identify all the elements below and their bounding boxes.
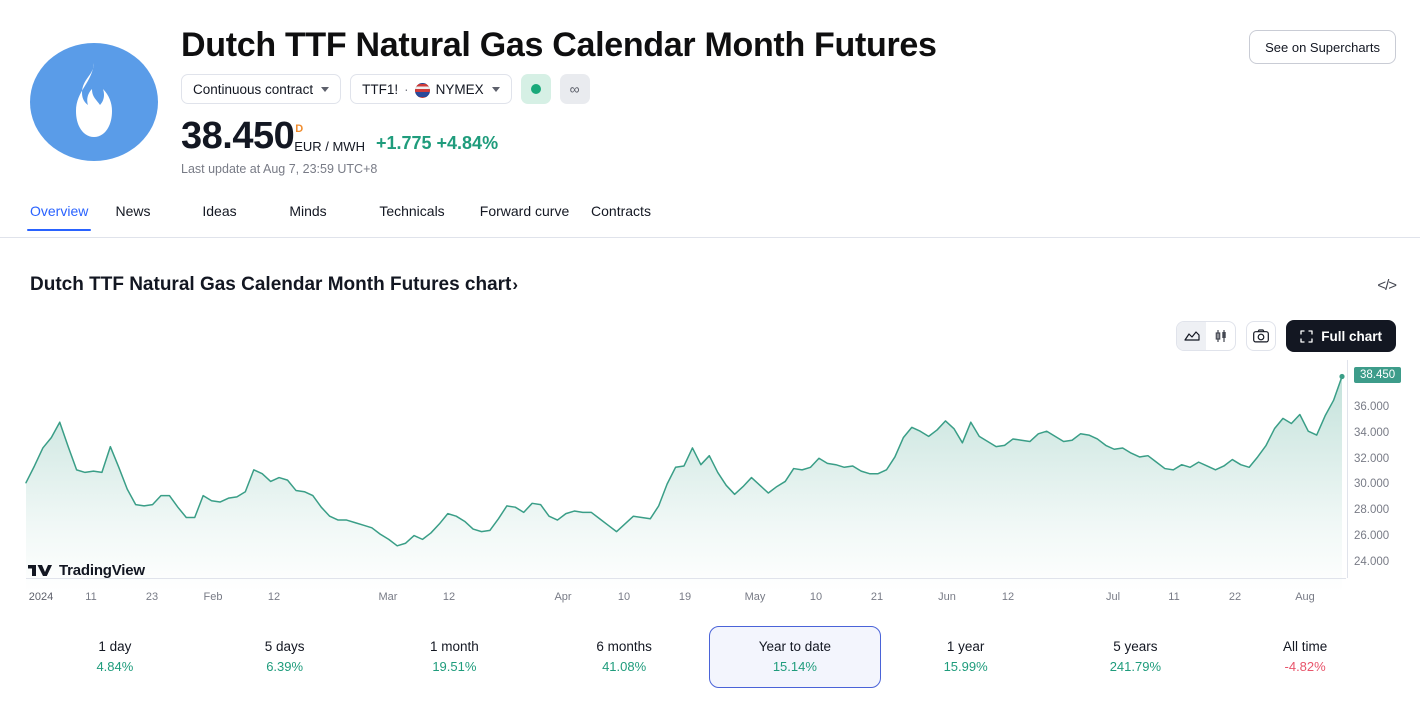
- chart-type-toggle: [1176, 321, 1236, 351]
- area-chart-glyph: [1184, 330, 1200, 342]
- y-axis-label: 28.000: [1354, 504, 1389, 516]
- x-axis-label: 23: [146, 591, 158, 603]
- x-axis-label: Apr: [554, 591, 571, 603]
- flame-icon: [68, 63, 120, 141]
- chevron-down-icon: [492, 87, 500, 92]
- x-axis-label: 2024: [29, 591, 53, 603]
- x-axis-label: 12: [1002, 591, 1014, 603]
- x-axis-label: 11: [85, 591, 96, 603]
- period-label: 6 months: [596, 637, 652, 657]
- price-row: 38.450 D EUR / MWH +1.775 +4.84%: [181, 117, 937, 155]
- price-chart[interactable]: 38.450 36.00034.00032.00030.00028.00026.…: [0, 360, 1420, 592]
- candlestick-glyph: [1214, 329, 1228, 343]
- symbol-chip-row: Continuous contract TTF1! · NYMEX ∞: [181, 74, 937, 104]
- chevron-down-icon: [321, 87, 329, 92]
- tab-cell: Overview: [30, 203, 87, 231]
- tab-forward-curve[interactable]: Forward curve: [480, 203, 569, 231]
- period-1-month[interactable]: 1 month19.51%: [370, 626, 540, 688]
- x-axis-label: 12: [268, 591, 280, 603]
- period-change-value: 4.84%: [96, 657, 133, 677]
- period-year-to-date[interactable]: Year to date15.14%: [709, 626, 881, 688]
- fullscreen-icon: [1300, 330, 1313, 343]
- period-change-value: -4.82%: [1285, 657, 1326, 677]
- x-axis-label: 12: [443, 591, 455, 603]
- period-change-value: 15.99%: [944, 657, 988, 677]
- symbol-exchange-chip[interactable]: TTF1! · NYMEX: [350, 74, 512, 104]
- price-unit: EUR / MWH: [294, 139, 365, 154]
- tab-news[interactable]: News: [115, 203, 150, 231]
- x-axis-label: 21: [871, 591, 883, 603]
- tab-cell: Minds: [260, 203, 356, 231]
- chart-area-fill: [26, 377, 1342, 592]
- price-interval-superscript: D: [295, 123, 303, 135]
- market-open-dot-icon: [531, 84, 541, 94]
- tab-technicals[interactable]: Technicals: [379, 203, 444, 231]
- current-price: 38.450: [181, 117, 294, 155]
- x-axis-label: 11: [1168, 591, 1179, 603]
- y-axis-label: 32.000: [1354, 453, 1389, 465]
- current-price-badge: 38.450: [1354, 367, 1401, 383]
- y-axis: 38.450 36.00034.00032.00030.00028.00026.…: [1354, 360, 1420, 592]
- chevron-right-icon: ›: [512, 275, 518, 294]
- price-change: +1.775 +4.84%: [376, 133, 498, 154]
- title-block: Dutch TTF Natural Gas Calendar Month Fut…: [181, 24, 937, 176]
- tab-minds[interactable]: Minds: [289, 203, 326, 231]
- period-change-value: 241.79%: [1110, 657, 1161, 677]
- chart-toolbar: Full chart: [1176, 320, 1396, 352]
- chart-canvas: [0, 360, 1350, 592]
- main-tabs: OverviewNewsIdeasMindsTechnicalsForward …: [0, 203, 1420, 238]
- period-label: 1 month: [430, 637, 479, 657]
- period-6-months[interactable]: 6 months41.08%: [539, 626, 709, 688]
- period-label: 5 years: [1113, 637, 1157, 657]
- x-axis-label: May: [745, 591, 766, 603]
- period-label: All time: [1283, 637, 1327, 657]
- tradingview-logo-icon: [28, 564, 52, 578]
- chart-section-title-text: Dutch TTF Natural Gas Calendar Month Fut…: [30, 274, 511, 295]
- full-chart-button[interactable]: Full chart: [1286, 320, 1396, 352]
- x-axis: 20241123Feb12Mar12Apr1019May1021Jun12Jul…: [0, 591, 1420, 607]
- chart-section-title[interactable]: Dutch TTF Natural Gas Calendar Month Fut…: [30, 274, 518, 296]
- continuous-contract-chip[interactable]: ∞: [560, 74, 590, 104]
- symbol-logo: [30, 43, 158, 161]
- page-root: Dutch TTF Natural Gas Calendar Month Fut…: [0, 0, 1420, 704]
- separator-dot: ·: [404, 82, 409, 97]
- symbol-ticker-label: TTF1!: [362, 82, 398, 97]
- area-chart-icon[interactable]: [1177, 322, 1206, 350]
- period-label: 1 day: [98, 637, 131, 657]
- period-change-value: 6.39%: [266, 657, 303, 677]
- tab-ideas[interactable]: Ideas: [202, 203, 236, 231]
- period-change-value: 19.51%: [432, 657, 476, 677]
- tab-overview[interactable]: Overview: [30, 203, 88, 231]
- screenshot-button[interactable]: [1246, 321, 1276, 351]
- contract-type-chip[interactable]: Continuous contract: [181, 74, 341, 104]
- period-label: Year to date: [759, 637, 831, 657]
- period-1-day[interactable]: 1 day4.84%: [30, 626, 200, 688]
- tradingview-watermark-label: TradingView: [59, 562, 145, 579]
- x-axis-label: Jul: [1106, 591, 1120, 603]
- page-title: Dutch TTF Natural Gas Calendar Month Fut…: [181, 24, 937, 66]
- x-axis-label: 22: [1229, 591, 1241, 603]
- tab-cell: Contracts: [581, 203, 661, 231]
- x-axis-label: Jun: [938, 591, 956, 603]
- chart-baseline-divider: [26, 578, 1346, 579]
- tab-cell: Technicals: [356, 203, 468, 231]
- market-status-chip[interactable]: [521, 74, 551, 104]
- y-axis-divider: [1347, 360, 1348, 578]
- last-price-dot: [1339, 374, 1344, 379]
- contract-type-label: Continuous contract: [193, 82, 313, 97]
- see-on-supercharts-button[interactable]: See on Supercharts: [1249, 30, 1396, 64]
- x-axis-label: 19: [679, 591, 691, 603]
- y-axis-label: 24.000: [1354, 556, 1389, 568]
- x-axis-label: 10: [810, 591, 822, 603]
- period-label: 5 days: [265, 637, 305, 657]
- infinity-icon: ∞: [570, 81, 580, 97]
- period-all-time[interactable]: All time-4.82%: [1220, 626, 1390, 688]
- y-axis-label: 26.000: [1354, 530, 1389, 542]
- camera-icon: [1253, 329, 1269, 343]
- tab-cell: Forward curve: [468, 203, 581, 231]
- period-label: 1 year: [947, 637, 985, 657]
- period-change-value: 41.08%: [602, 657, 646, 677]
- last-update-text: Last update at Aug 7, 23:59 UTC+8: [181, 162, 937, 176]
- period-change-value: 15.14%: [773, 657, 817, 677]
- code-icon[interactable]: </>: [1377, 277, 1396, 294]
- us-flag-icon: [415, 83, 430, 98]
- period-5-years[interactable]: 5 years241.79%: [1051, 626, 1221, 688]
- period-performance-row: 1 day4.84%5 days6.39%1 month19.51%6 mont…: [30, 626, 1390, 688]
- candlestick-icon[interactable]: [1206, 322, 1235, 350]
- full-chart-label: Full chart: [1321, 329, 1382, 344]
- y-axis-label: 36.000: [1354, 401, 1389, 413]
- tradingview-watermark: TradingView: [28, 562, 145, 579]
- tab-list: OverviewNewsIdeasMindsTechnicalsForward …: [30, 203, 661, 231]
- tab-cell: Ideas: [179, 203, 260, 231]
- x-axis-label: Feb: [204, 591, 223, 603]
- x-axis-label: 10: [618, 591, 630, 603]
- period-5-days[interactable]: 5 days6.39%: [200, 626, 370, 688]
- x-axis-label: Mar: [379, 591, 398, 603]
- tab-cell: News: [87, 203, 179, 231]
- period-1-year[interactable]: 1 year15.99%: [881, 626, 1051, 688]
- y-axis-label: 34.000: [1354, 427, 1389, 439]
- y-axis-label: 30.000: [1354, 478, 1389, 490]
- exchange-label: NYMEX: [436, 82, 484, 97]
- x-axis-label: Aug: [1295, 591, 1315, 603]
- tab-contracts[interactable]: Contracts: [591, 203, 651, 231]
